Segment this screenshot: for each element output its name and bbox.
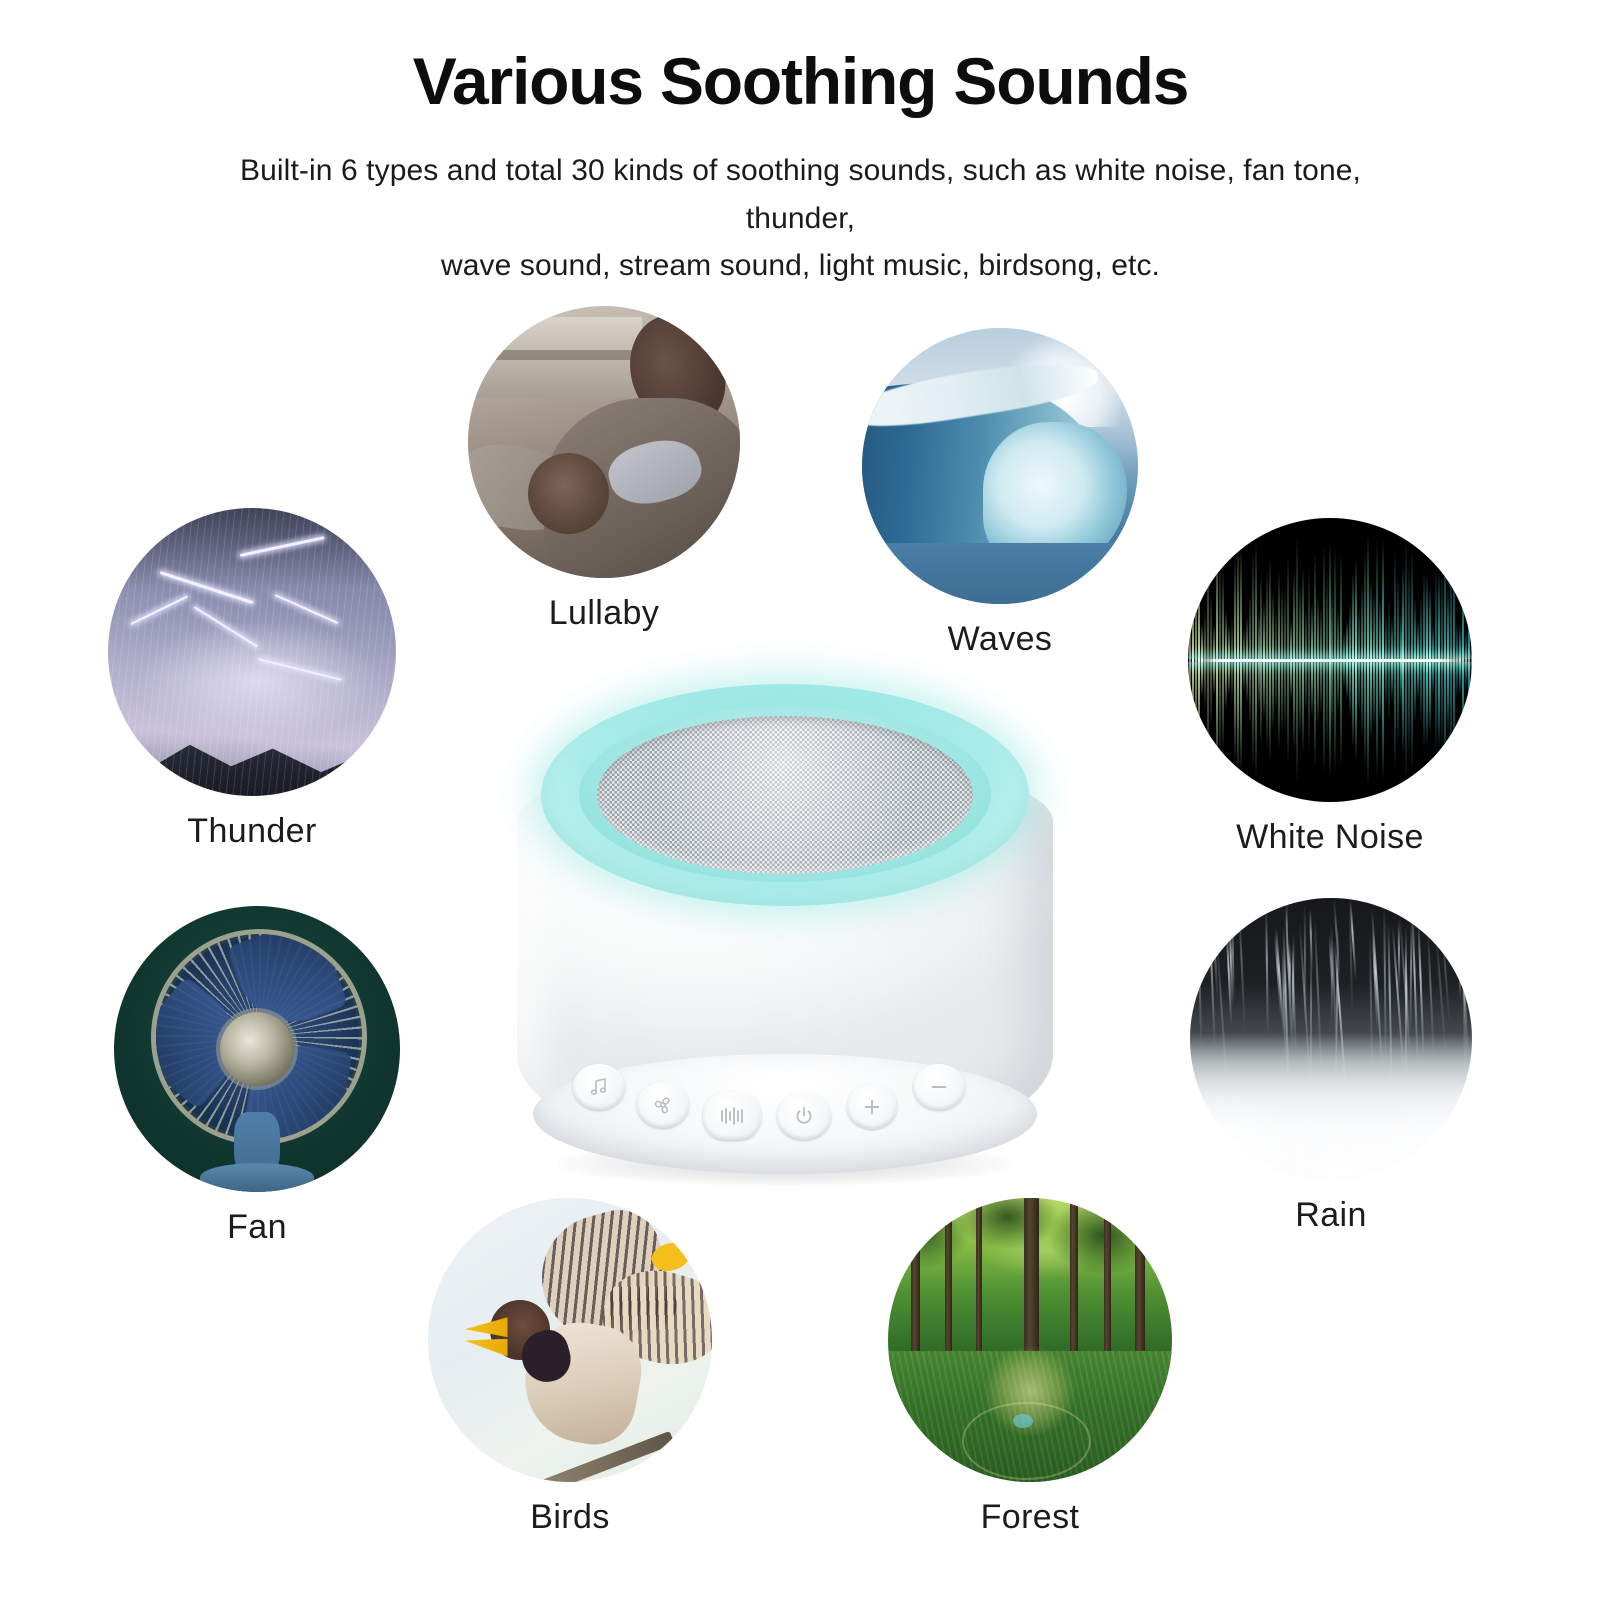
page-subtitle: Built-in 6 types and total 30 kinds of s… [191, 147, 1411, 289]
subtitle-line-2: wave sound, stream sound, light music, b… [191, 242, 1411, 289]
sound-label-white-noise: White Noise [1188, 818, 1472, 857]
forest-artwork [888, 1198, 1172, 1482]
sound-item-birds[interactable]: Birds [428, 1198, 712, 1537]
lightning-bolt-icon [194, 606, 259, 647]
lightning-bolt-icon [159, 571, 253, 604]
fan-image [114, 906, 400, 1192]
power-icon [792, 1104, 816, 1128]
fan-base [200, 1163, 314, 1192]
sound-label-waves: Waves [862, 620, 1138, 659]
fan-artwork [114, 906, 400, 1192]
white-noise-artwork [1188, 518, 1472, 802]
fan-hub [220, 1012, 294, 1086]
rain-streak [1198, 947, 1203, 1046]
header: Various Soothing Sounds Built-in 6 types… [0, 46, 1601, 289]
sound-select-button[interactable] [573, 1064, 625, 1110]
sound-item-rain[interactable]: Rain [1190, 898, 1472, 1235]
volume-up-button[interactable] [847, 1084, 897, 1129]
lightning-bolt-icon [258, 658, 342, 681]
waveform-icon [717, 1104, 747, 1128]
sound-item-forest[interactable]: Forest [888, 1198, 1172, 1537]
sound-label-thunder: Thunder [108, 812, 396, 851]
rain-streak [1202, 902, 1206, 978]
sound-item-fan[interactable]: Fan [114, 906, 400, 1247]
rain-mist [1190, 1033, 1472, 1180]
waves-artwork [862, 328, 1138, 604]
lullaby-image [468, 306, 740, 578]
sound-item-thunder[interactable]: Thunder [108, 508, 396, 851]
bird-beak-lower [465, 1339, 508, 1359]
sound-label-birds: Birds [428, 1498, 712, 1537]
birds-image [428, 1198, 712, 1482]
rain-streak [1286, 899, 1289, 962]
sound-item-lullaby[interactable]: Lullaby [468, 306, 740, 633]
minus-icon [928, 1076, 950, 1098]
rain-streak [1442, 934, 1451, 1023]
white-noise-button[interactable] [703, 1092, 761, 1140]
speaker-grille [597, 716, 973, 874]
sea-surface [862, 543, 1138, 604]
subtitle-line-1: Built-in 6 types and total 30 kinds of s… [191, 147, 1411, 242]
page-title: Various Soothing Sounds [0, 46, 1601, 117]
forest-image [888, 1198, 1172, 1482]
sound-item-white-noise[interactable]: White Noise [1188, 518, 1472, 857]
bird-beak-upper [465, 1317, 508, 1337]
birds-artwork [428, 1198, 712, 1482]
thunder-artwork [108, 508, 396, 796]
sound-label-forest: Forest [888, 1498, 1172, 1537]
sound-label-rain: Rain [1190, 1196, 1472, 1235]
waves-image [862, 328, 1138, 604]
music-note-icon [587, 1075, 611, 1099]
rain-image [1190, 898, 1472, 1180]
lens-flare-dot [1013, 1414, 1033, 1428]
fan-icon [651, 1093, 675, 1117]
rain-streak [1466, 913, 1469, 1004]
volume-down-button[interactable] [913, 1064, 965, 1110]
sound-machine-device [505, 672, 1065, 1192]
window-bar [473, 350, 642, 361]
sound-label-lullaby: Lullaby [468, 594, 740, 633]
rain-streak [1238, 908, 1246, 1031]
mountain-silhouette [108, 715, 396, 796]
white-noise-image [1188, 518, 1472, 802]
rain-artwork [1190, 898, 1472, 1180]
lightning-bolt-icon [131, 596, 189, 626]
tree-trunk [976, 1198, 982, 1374]
power-button[interactable] [777, 1092, 831, 1140]
device-button-row [567, 1062, 979, 1148]
sound-item-waves[interactable]: Waves [862, 328, 1138, 659]
rain-streak [1265, 906, 1269, 1036]
waveform-center-line [1188, 659, 1472, 662]
fan-tone-button[interactable] [637, 1082, 689, 1128]
plus-icon [861, 1096, 883, 1118]
thunder-image [108, 508, 396, 796]
lullaby-artwork [468, 306, 740, 578]
lightning-bolt-icon [240, 536, 325, 557]
sound-label-fan: Fan [114, 1208, 400, 1247]
lightning-bolt-icon [275, 594, 339, 624]
